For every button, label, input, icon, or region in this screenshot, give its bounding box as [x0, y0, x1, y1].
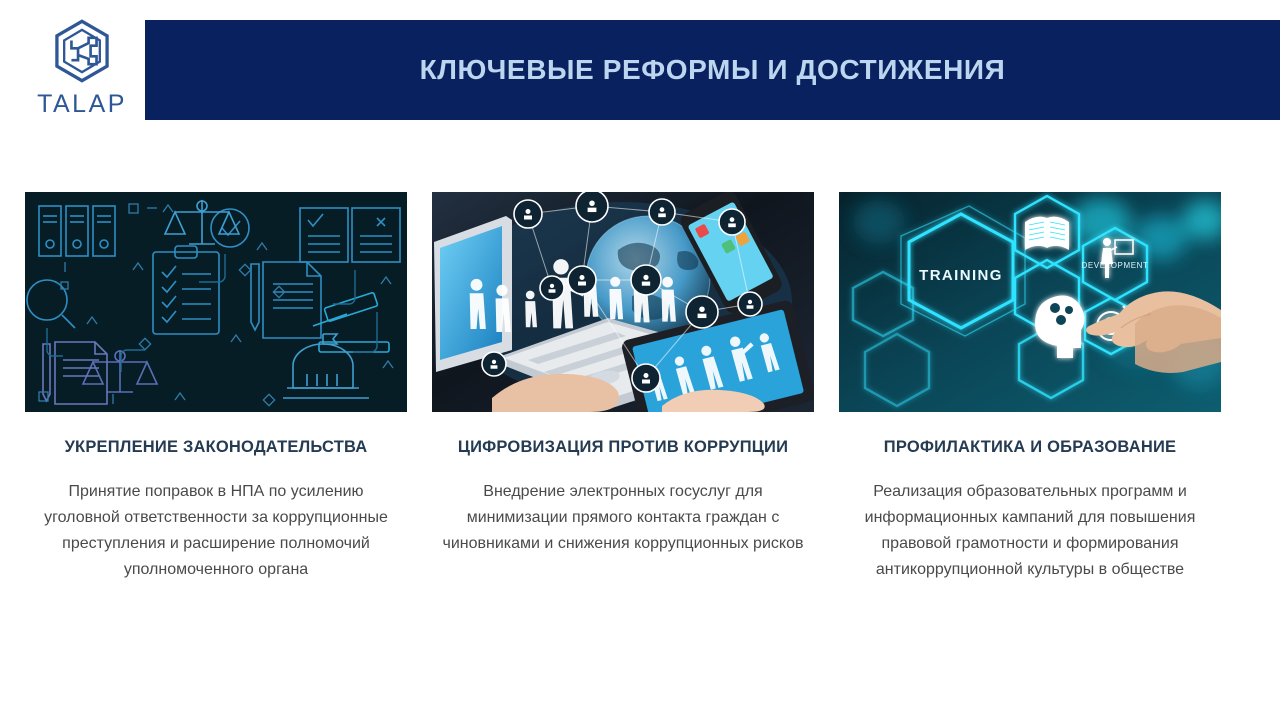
card-body: Внедрение электронных госуслуг для миним…: [432, 479, 814, 557]
hex-label-training: TRAINING: [919, 267, 1003, 284]
card-heading: ЦИФРОВИЗАЦИЯ ПРОТИВ КОРРУПЦИИ: [432, 438, 814, 457]
hex-label-development: DEVELOPMENT: [1081, 261, 1148, 270]
legislation-illustration-svg: [25, 192, 407, 412]
digital-services-illustration-svg: [432, 192, 814, 412]
card-education: TRAINING DEVELOPMENT SKILLS: [839, 192, 1221, 583]
legislation-line-art-illustration: [25, 192, 407, 412]
card-legislation: УКРЕПЛЕНИЕ ЗАКОНОДАТЕЛЬСТВА Принятие поп…: [25, 192, 407, 583]
brand-wordmark: TALAP: [37, 90, 127, 119]
card-body: Реализация образовательных программ и ин…: [839, 479, 1221, 583]
open-book-icon: [1025, 217, 1069, 250]
training-hexagons-photo: TRAINING DEVELOPMENT SKILLS: [839, 192, 1221, 412]
slide-title: КЛЮЧЕВЫЕ РЕФОРМЫ И ДОСТИЖЕНИЯ: [420, 54, 1006, 86]
slide-header-bar: КЛЮЧЕВЫЕ РЕФОРМЫ И ДОСТИЖЕНИЯ: [145, 20, 1280, 120]
cards-row: УКРЕПЛЕНИЕ ЗАКОНОДАТЕЛЬСТВА Принятие поп…: [0, 192, 1280, 583]
card-digitalization: ЦИФРОВИЗАЦИЯ ПРОТИВ КОРРУПЦИИ Внедрение …: [432, 192, 814, 583]
card-body: Принятие поправок в НПА по усилению угол…: [25, 479, 407, 583]
card-heading: УКРЕПЛЕНИЕ ЗАКОНОДАТЕЛЬСТВА: [25, 438, 407, 457]
training-illustration-svg: TRAINING DEVELOPMENT SKILLS: [839, 192, 1221, 412]
digital-services-photo: [432, 192, 814, 412]
talap-hexagon-logo-icon: [49, 18, 115, 84]
brand-logo: TALAP: [22, 18, 142, 128]
card-heading: ПРОФИЛАКТИКА И ОБРАЗОВАНИЕ: [839, 438, 1221, 457]
